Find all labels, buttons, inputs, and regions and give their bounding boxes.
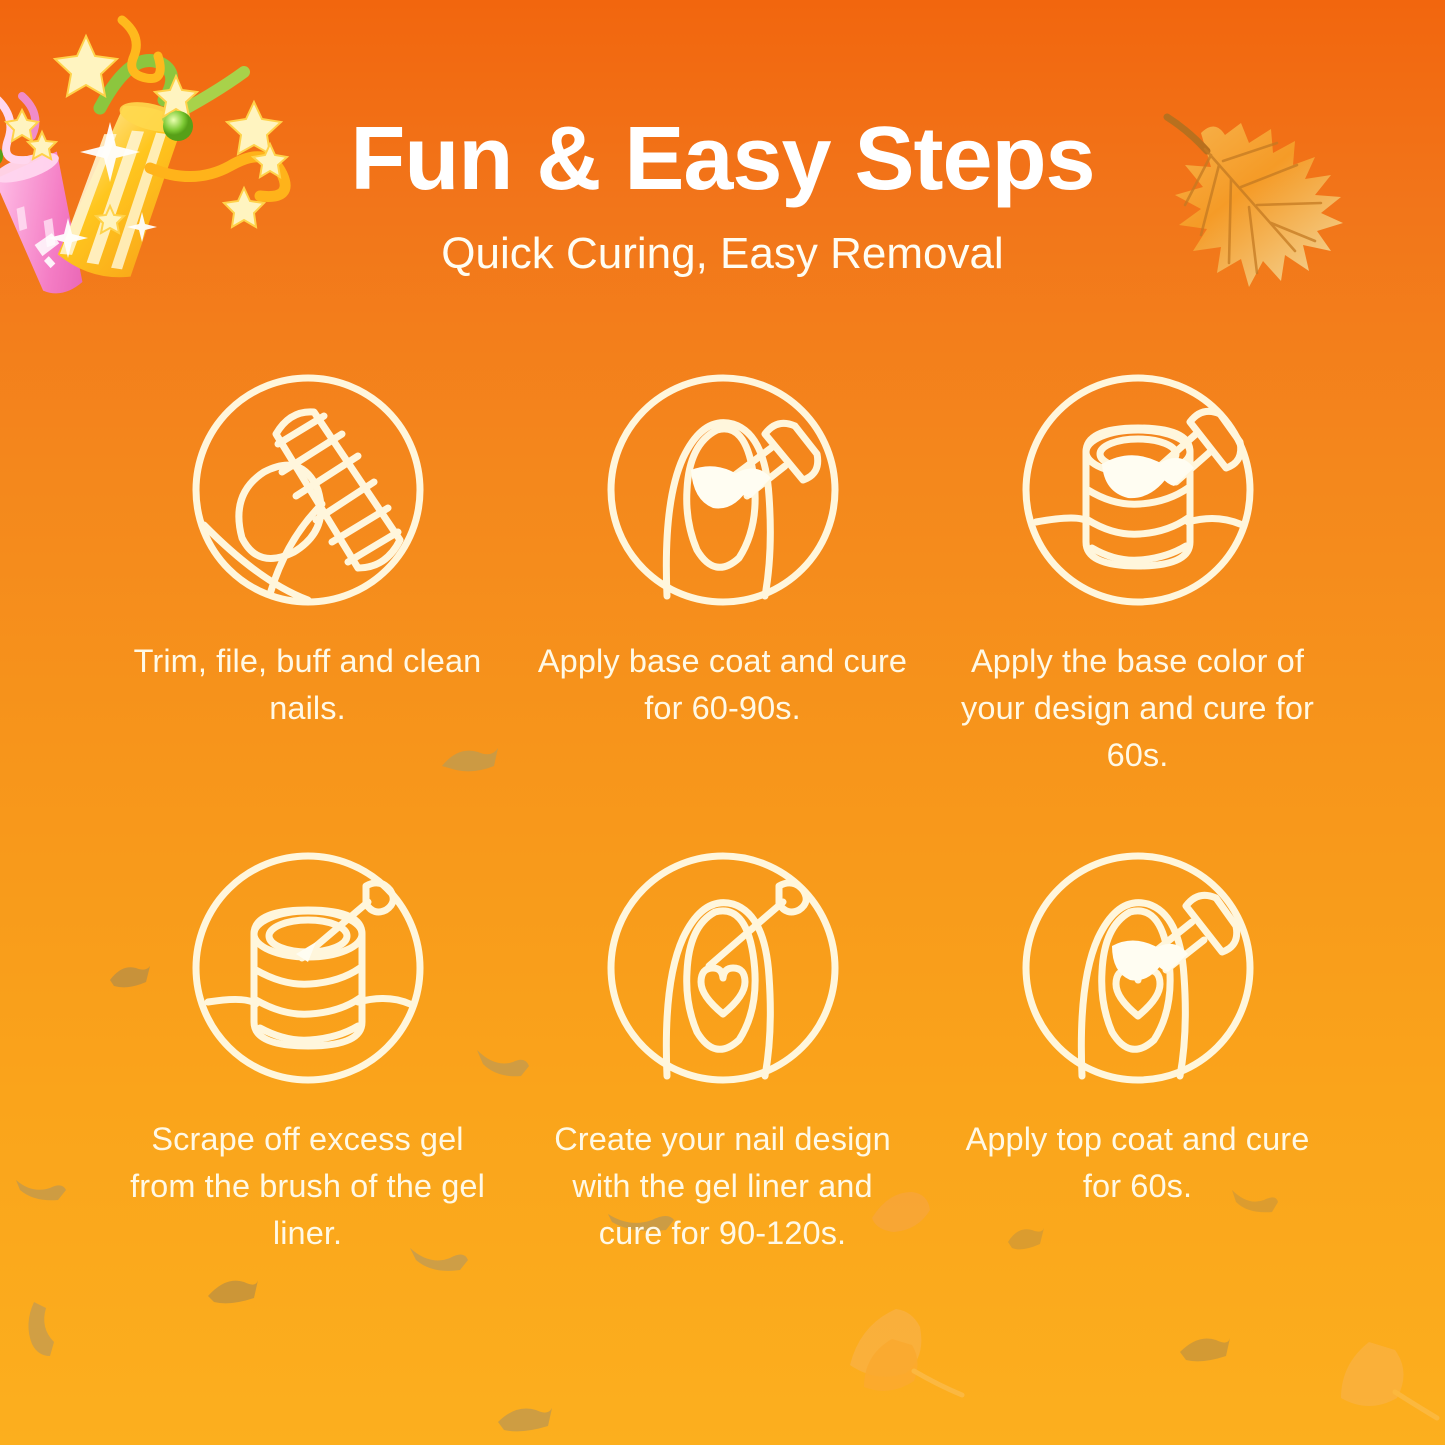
step-caption: Apply base coat and cure for 60-90s. (538, 638, 908, 732)
step-caption: Apply the base color of your design and … (953, 638, 1323, 778)
step-caption: Create your nail design with the gel lin… (538, 1116, 908, 1256)
step-caption: Trim, file, buff and clean nails. (123, 638, 493, 732)
step-item: Create your nail design with the gel lin… (515, 850, 930, 1256)
step-item: Apply top coat and cure for 60s. (930, 850, 1345, 1256)
base-coat-brush-icon (605, 372, 841, 608)
ginkgo-leaf-icon (1325, 1330, 1445, 1440)
scrape-liner-icon (190, 850, 426, 1086)
steps-grid: Trim, file, buff and clean nails. (100, 372, 1345, 1257)
page-subtitle: Quick Curing, Easy Removal (0, 229, 1445, 279)
step-caption: Apply top coat and cure for 60s. (953, 1116, 1323, 1210)
confetti-ribbon-icon (20, 1300, 66, 1360)
nail-file-icon (190, 372, 426, 608)
gel-pot-brush-icon (1020, 372, 1256, 608)
nail-art-heart-icon (605, 850, 841, 1086)
step-caption: Scrape off excess gel from the brush of … (123, 1116, 493, 1256)
header: Fun & Easy Steps Quick Curing, Easy Remo… (0, 0, 1445, 279)
confetti-ribbon-icon (1178, 1330, 1232, 1368)
page-title: Fun & Easy Steps (0, 112, 1445, 207)
top-coat-heart-icon (1020, 850, 1256, 1086)
step-item: Trim, file, buff and clean nails. (100, 372, 515, 778)
confetti-ribbon-icon (14, 1168, 68, 1204)
step-item: Apply base coat and cure for 60-90s. (515, 372, 930, 778)
confetti-ribbon-icon (496, 1400, 554, 1440)
promo-poster: Fun & Easy Steps Quick Curing, Easy Remo… (0, 0, 1445, 1445)
step-item: Apply the base color of your design and … (930, 372, 1345, 778)
ginkgo-leaf-icon (830, 1295, 970, 1415)
confetti-ribbon-icon (206, 1270, 260, 1310)
step-item: Scrape off excess gel from the brush of … (100, 850, 515, 1256)
